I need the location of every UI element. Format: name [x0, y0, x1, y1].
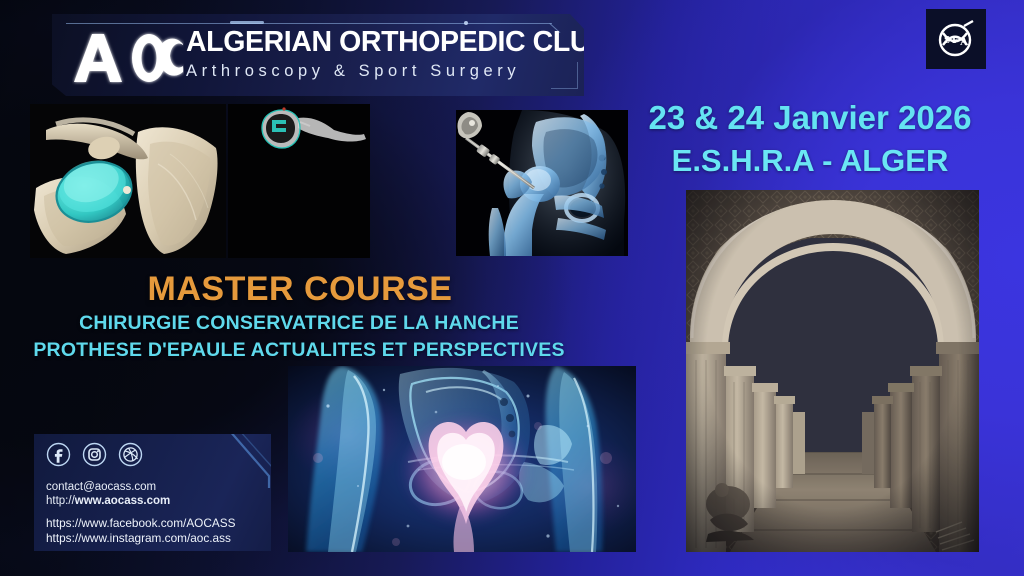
contact-email[interactable]: contact@aocass.com [46, 480, 235, 494]
hip-arthroscopy-xray-image [456, 110, 628, 256]
decorative-tech-dot-icon [464, 21, 468, 25]
course-title: MASTER COURSE [20, 270, 580, 309]
event-date: 23 & 24 Janvier 2026 [604, 98, 1016, 138]
sfa-logo: S F A [926, 9, 986, 69]
svg-text:A: A [960, 36, 968, 48]
social-links [46, 442, 143, 467]
organization-title: ALGERIAN ORTHOPEDIC CLUB [186, 26, 568, 58]
svg-text:F: F [952, 34, 959, 46]
instagram-icon[interactable] [82, 442, 107, 467]
website-domain: www.aocass.com [75, 495, 170, 507]
contact-instagram-url[interactable]: https://www.instagram.com/aoc.ass [46, 531, 235, 546]
dribbble-icon[interactable] [118, 442, 143, 467]
moorish-arches-photo [686, 190, 979, 552]
ct-slices-panel [228, 104, 370, 258]
contact-website[interactable]: http://www.aocass.com [46, 494, 235, 508]
organization-subtitle: Arthroscopy & Sport Surgery [186, 60, 568, 82]
contact-facebook-url[interactable]: https://www.facebook.com/AOCASS [46, 516, 235, 531]
website-prefix: http:// [46, 495, 75, 507]
poster-canvas: ALGERIAN ORTHOPEDIC CLUB Arthroscopy & S… [0, 0, 1024, 576]
shoulder-3d-reconstruction-image [30, 104, 226, 258]
svg-text:S: S [944, 34, 950, 46]
contact-details: contact@aocass.com http://www.aocass.com… [46, 480, 235, 545]
course-topics: CHIRURGIE CONSERVATRICE DE LA HANCHE PRO… [14, 310, 584, 364]
aoc-logo-text: ALGERIAN ORTHOPEDIC CLUB Arthroscopy & S… [186, 26, 568, 82]
course-topic-2: PROTHESE D'EPAULE ACTUALITES ET PERSPECT… [14, 337, 584, 364]
hip-joint-glow-image [288, 366, 636, 552]
course-topic-1: CHIRURGIE CONSERVATRICE DE LA HANCHE [14, 310, 584, 337]
facebook-icon[interactable] [46, 442, 71, 467]
decorative-tech-line-icon [66, 23, 552, 24]
aoc-monogram-icon [72, 30, 184, 86]
event-venue: E.S.H.R.A - ALGER [604, 141, 1016, 181]
decorative-tech-dash-icon [230, 21, 264, 24]
event-details: 23 & 24 Janvier 2026 E.S.H.R.A - ALGER [604, 98, 1016, 181]
aoc-logo-bar: ALGERIAN ORTHOPEDIC CLUB Arthroscopy & S… [52, 14, 584, 96]
contact-card: contact@aocass.com http://www.aocass.com… [34, 434, 271, 551]
